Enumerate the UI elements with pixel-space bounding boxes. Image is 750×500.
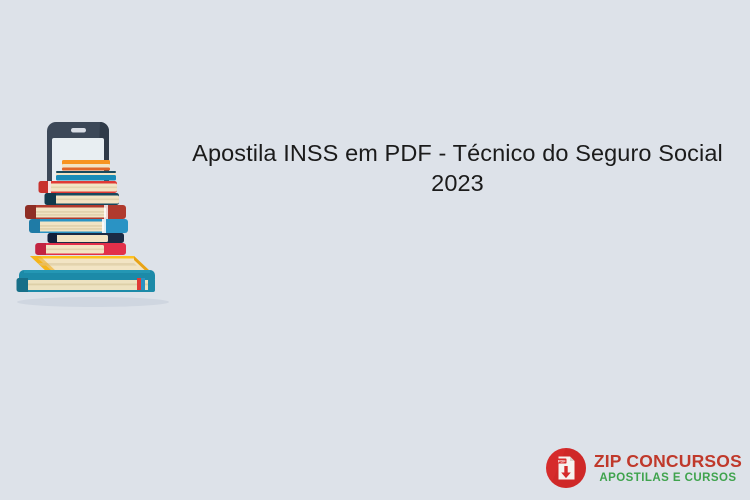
book-blue (29, 219, 128, 233)
book-top-thin-orange (62, 160, 110, 171)
book-darkest-navy (48, 233, 125, 243)
book-red (39, 181, 118, 193)
brand-logo: PDF ZIP CONCURSOS APOSTILAS E CURSOS (545, 444, 742, 492)
book-top-thin-teal (56, 171, 116, 181)
logo-primary-text: ZIP CONCURSOS (594, 452, 742, 471)
bookmark-ribbon-blue (141, 278, 145, 290)
promo-banner: Apostila INSS em PDF - Técnico do Seguro… (0, 0, 750, 500)
page-title: Apostila INSS em PDF - Técnico do Seguro… (165, 138, 750, 198)
book-dark-red (25, 205, 126, 219)
book-navy (45, 193, 120, 205)
book-crimson (35, 243, 126, 255)
svg-text:PDF: PDF (558, 460, 566, 464)
pdf-download-icon: PDF (545, 447, 587, 489)
ground-shadow (17, 297, 169, 307)
tablet-book-stack-illustration (8, 120, 178, 315)
bookmark-ribbon-red (137, 278, 141, 290)
book-bottom-teal (17, 270, 156, 292)
logo-wordmark: ZIP CONCURSOS APOSTILAS E CURSOS (594, 452, 742, 485)
logo-secondary-text: APOSTILAS E CURSOS (594, 471, 742, 485)
